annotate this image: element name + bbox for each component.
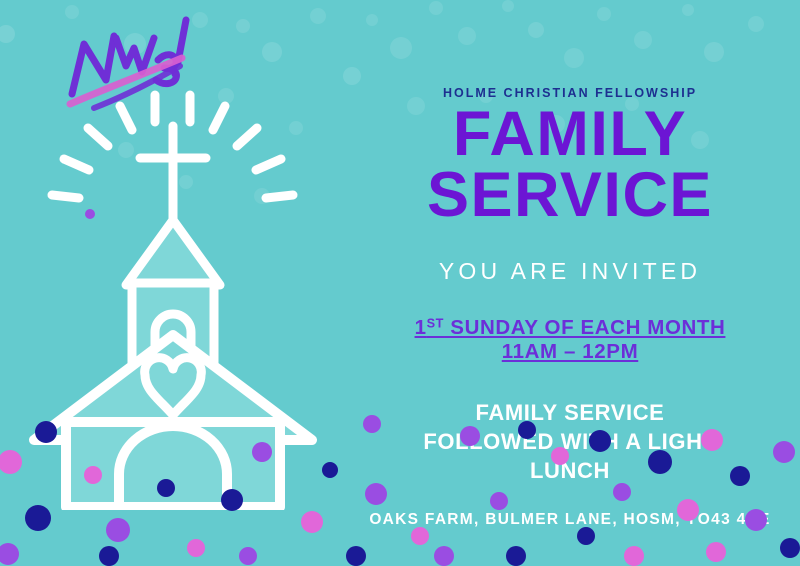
cross-icon: [140, 126, 206, 222]
church-body: [66, 422, 280, 507]
detail-line-3: LUNCH: [340, 456, 800, 485]
page-title: FAMILY SERVICE: [340, 104, 800, 226]
new-badge: [58, 8, 208, 118]
event-details: FAMILY SERVICE FOLLOWED WITH A LIGHT LUN…: [340, 398, 800, 485]
schedule-time: 11AM – 12PM: [340, 340, 800, 364]
schedule-day-rest: SUNDAY OF EACH MONTH: [444, 316, 725, 339]
detail-line-2: FOLLOWED WITH A LIGHT: [340, 427, 800, 456]
invitation-text: YOU ARE INVITED: [340, 258, 800, 285]
schedule-day-ordinal: ST: [427, 316, 444, 331]
bubble: [236, 19, 250, 33]
bubble: [0, 25, 15, 43]
organisation-name: HOLME CHRISTIAN FELLOWSHIP: [340, 86, 800, 100]
steeple-roof: [126, 220, 220, 285]
schedule-day: 1ST SUNDAY OF EACH MONTH: [340, 316, 800, 340]
confetti-dot: [301, 511, 323, 533]
confetti-dot: [0, 543, 19, 565]
schedule-day-number: 1: [415, 316, 427, 339]
bubble: [310, 8, 326, 24]
headline-line-1: FAMILY: [340, 104, 800, 165]
venue-address: OAKS FARM, BULMER LANE, HOSM, YO43 4HE: [340, 511, 800, 529]
confetti-dot: [106, 518, 130, 542]
bubble: [262, 42, 282, 62]
confetti-dot: [99, 546, 119, 566]
headline-line-2: SERVICE: [340, 165, 800, 226]
text-content-column: HOLME CHRISTIAN FELLOWSHIP FAMILY SERVIC…: [340, 0, 800, 566]
confetti-dot: [187, 539, 205, 557]
schedule-block: 1ST SUNDAY OF EACH MONTH 11AM – 12PM: [340, 316, 800, 364]
confetti-dot: [0, 450, 22, 474]
detail-line-1: FAMILY SERVICE: [340, 398, 800, 427]
church-illustration: [24, 70, 334, 510]
poster-canvas: HOLME CHRISTIAN FELLOWSHIP FAMILY SERVIC…: [0, 0, 800, 566]
confetti-dot: [239, 547, 257, 565]
